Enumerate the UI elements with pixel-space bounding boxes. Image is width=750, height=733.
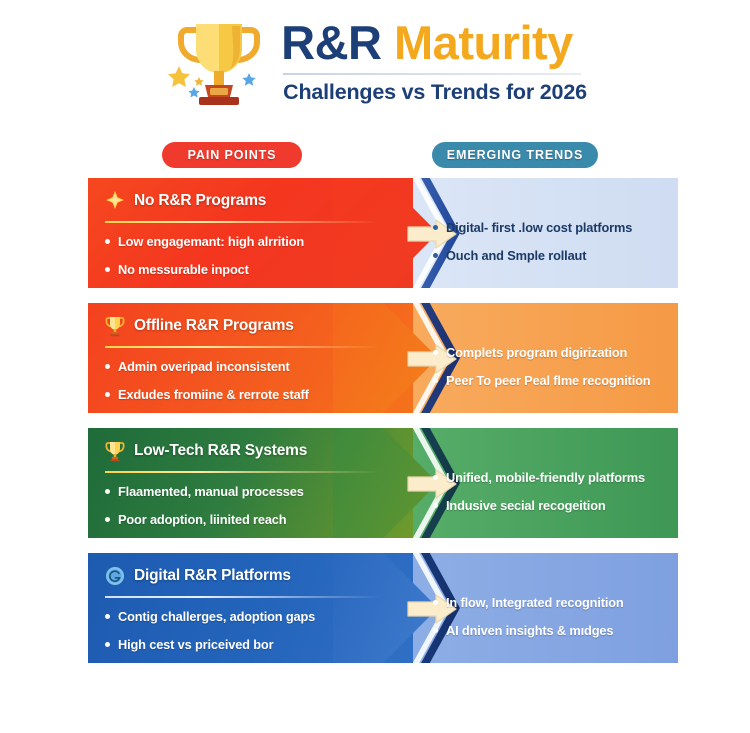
bullet-dot bbox=[433, 600, 438, 605]
maturity-row: Low-Tech R&R Systems Flaamented, manual … bbox=[88, 428, 678, 538]
list-item: Indusive secial recogeition bbox=[433, 498, 668, 513]
list-item: High cest vs priceived bor bbox=[105, 637, 395, 652]
bullet-dot bbox=[105, 517, 110, 522]
emerging-trends-badge: EMERGING TRENDS bbox=[432, 142, 598, 168]
list-item-label: In flow, Integrated recognition bbox=[446, 595, 624, 610]
maturity-row: Offline R&R Programs Admin overipad inco… bbox=[88, 303, 678, 413]
bullet-dot bbox=[433, 475, 438, 480]
bullet-dot bbox=[105, 239, 110, 244]
trophy-icon bbox=[104, 315, 126, 337]
sparkle-icon bbox=[104, 190, 126, 212]
list-item-label: Digital- first .low cost platforms bbox=[446, 220, 632, 235]
list-item: Admin overipad inconsistent bbox=[105, 359, 395, 374]
list-item: Unified, mobile-friendly platforms bbox=[433, 470, 668, 485]
title-part-maturity: Maturity bbox=[394, 16, 573, 69]
maturity-row: No R&R Programs Low engagemant: high alr… bbox=[88, 178, 678, 288]
list-item: Contig challerges, adoption gaps bbox=[105, 609, 395, 624]
row-heading-label: Low-Tech R&R Systems bbox=[134, 442, 307, 460]
list-item: No messurable inpoct bbox=[105, 262, 395, 277]
bullet-dot bbox=[105, 642, 110, 647]
bullet-dot bbox=[433, 628, 438, 633]
list-item-label: Low engagemant: high alrrition bbox=[118, 234, 304, 249]
list-item: Exdudes fromiine & rerrote staff bbox=[105, 387, 395, 402]
column-header-row: PAIN POINTS EMERGING TRENDS bbox=[0, 142, 750, 168]
row-heading-label: Digital R&R Platforms bbox=[134, 567, 291, 585]
page-subtitle: Challenges vs Trends for 2026 bbox=[283, 80, 587, 105]
page-title: R&R Maturity bbox=[281, 19, 587, 66]
bullet-dot bbox=[105, 392, 110, 397]
row-heading: Offline R&R Programs bbox=[104, 315, 294, 337]
row-heading-divider bbox=[105, 471, 380, 473]
bullet-dot bbox=[105, 364, 110, 369]
pain-point-list: Admin overipad inconsistent Exdudes from… bbox=[105, 359, 395, 413]
trophy-icon bbox=[104, 440, 126, 462]
list-item-label: No messurable inpoct bbox=[118, 262, 249, 277]
pain-points-badge: PAIN POINTS bbox=[162, 142, 302, 168]
row-heading: Digital R&R Platforms bbox=[104, 565, 291, 587]
title-part-rr: R&R bbox=[281, 16, 381, 69]
list-item: Peer To peer Peal flme recognition bbox=[433, 373, 668, 388]
list-item: Complets program digirization bbox=[433, 345, 668, 360]
list-item-label: Exdudes fromiine & rerrote staff bbox=[118, 387, 309, 402]
row-heading-divider bbox=[105, 346, 380, 348]
list-item: In flow, Integrated recognition bbox=[433, 595, 668, 610]
list-item: Low engagemant: high alrrition bbox=[105, 234, 395, 249]
trophy-logo-icon bbox=[163, 14, 275, 110]
row-heading-label: Offline R&R Programs bbox=[134, 317, 294, 335]
list-item-label: Poor adoption, liinited reach bbox=[118, 512, 286, 527]
trend-list: Complets program digirization Peer To pe… bbox=[433, 345, 668, 402]
pain-point-list: Low engagemant: high alrrition No messur… bbox=[105, 234, 395, 288]
bullet-dot bbox=[105, 267, 110, 272]
title-divider bbox=[283, 73, 581, 75]
maturity-rows: No R&R Programs Low engagemant: high alr… bbox=[88, 178, 678, 678]
bullet-dot bbox=[433, 378, 438, 383]
pain-point-list: Flaamented, manual processes Poor adopti… bbox=[105, 484, 395, 538]
list-item-label: Admin overipad inconsistent bbox=[118, 359, 290, 374]
page-header: R&R Maturity Challenges vs Trends for 20… bbox=[0, 14, 750, 110]
bullet-dot bbox=[433, 350, 438, 355]
list-item-label: AI dniven insights & mıdges bbox=[446, 623, 613, 638]
maturity-row: Digital R&R Platforms Contig challerges,… bbox=[88, 553, 678, 663]
list-item-label: Complets program digirization bbox=[446, 345, 627, 360]
row-heading: No R&R Programs bbox=[104, 190, 266, 212]
list-item: AI dniven insights & mıdges bbox=[433, 623, 668, 638]
trend-list: Unified, mobile-friendly platforms Indus… bbox=[433, 470, 668, 527]
row-heading-label: No R&R Programs bbox=[134, 192, 266, 210]
list-item-label: Indusive secial recogeition bbox=[446, 498, 606, 513]
globe-badge-icon bbox=[104, 565, 126, 587]
pain-point-list: Contig challerges, adoption gaps High ce… bbox=[105, 609, 395, 663]
list-item: Ouch and Smple rollaut bbox=[433, 248, 668, 263]
bullet-dot bbox=[433, 253, 438, 258]
bullet-dot bbox=[105, 614, 110, 619]
title-block: R&R Maturity Challenges vs Trends for 20… bbox=[281, 19, 587, 105]
list-item-label: Ouch and Smple rollaut bbox=[446, 248, 586, 263]
trend-list: Digital- first .low cost platforms Ouch … bbox=[433, 220, 668, 277]
bullet-dot bbox=[433, 503, 438, 508]
row-heading-divider bbox=[105, 221, 380, 223]
list-item: Poor adoption, liinited reach bbox=[105, 512, 395, 527]
bullet-dot bbox=[433, 225, 438, 230]
row-heading: Low-Tech R&R Systems bbox=[104, 440, 307, 462]
list-item: Digital- first .low cost platforms bbox=[433, 220, 668, 235]
bullet-dot bbox=[105, 489, 110, 494]
list-item-label: High cest vs priceived bor bbox=[118, 637, 273, 652]
row-heading-divider bbox=[105, 596, 380, 598]
list-item: Flaamented, manual processes bbox=[105, 484, 395, 499]
list-item-label: Contig challerges, adoption gaps bbox=[118, 609, 315, 624]
trend-list: In flow, Integrated recognition AI dnive… bbox=[433, 595, 668, 652]
list-item-label: Flaamented, manual processes bbox=[118, 484, 304, 499]
list-item-label: Unified, mobile-friendly platforms bbox=[446, 470, 645, 485]
list-item-label: Peer To peer Peal flme recognition bbox=[446, 373, 650, 388]
